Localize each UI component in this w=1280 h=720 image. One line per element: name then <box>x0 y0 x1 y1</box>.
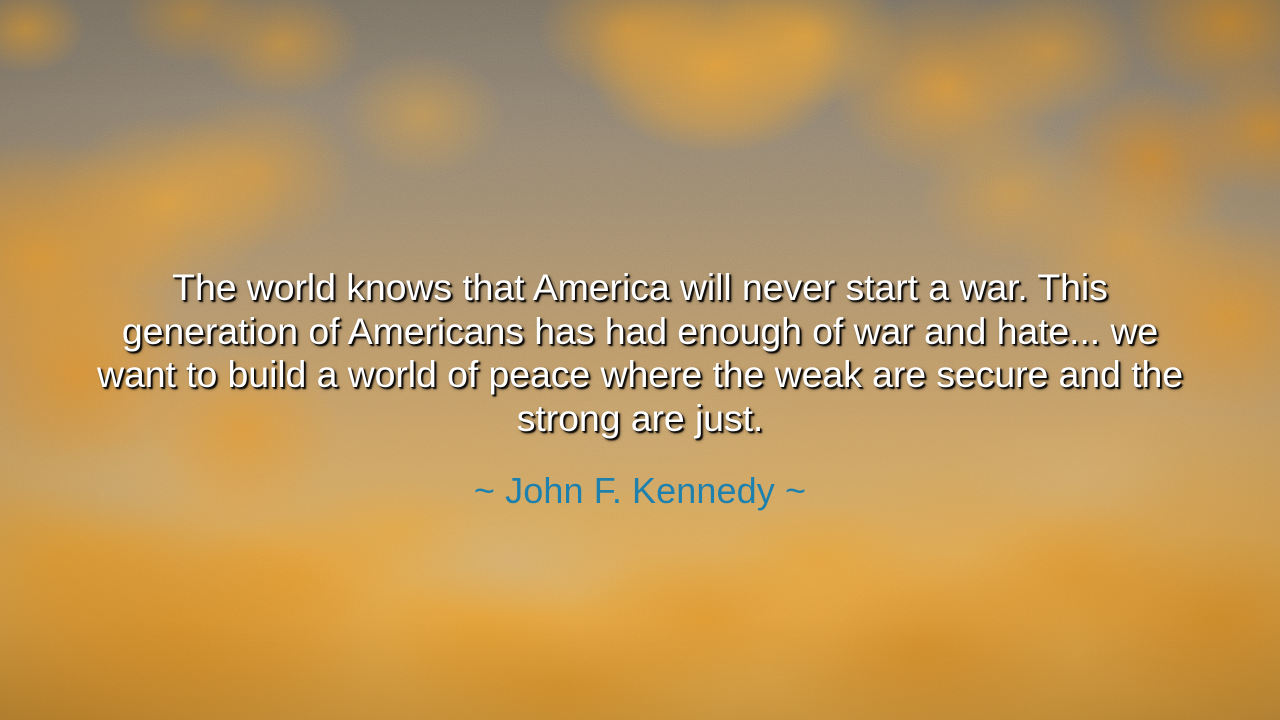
quote-card: The world knows that America will never … <box>0 0 1280 720</box>
quote-text: The world knows that America will never … <box>85 266 1195 440</box>
quote-attribution: ~ John F. Kennedy ~ <box>85 440 1195 512</box>
quote-block: The world knows that America will never … <box>85 266 1195 512</box>
